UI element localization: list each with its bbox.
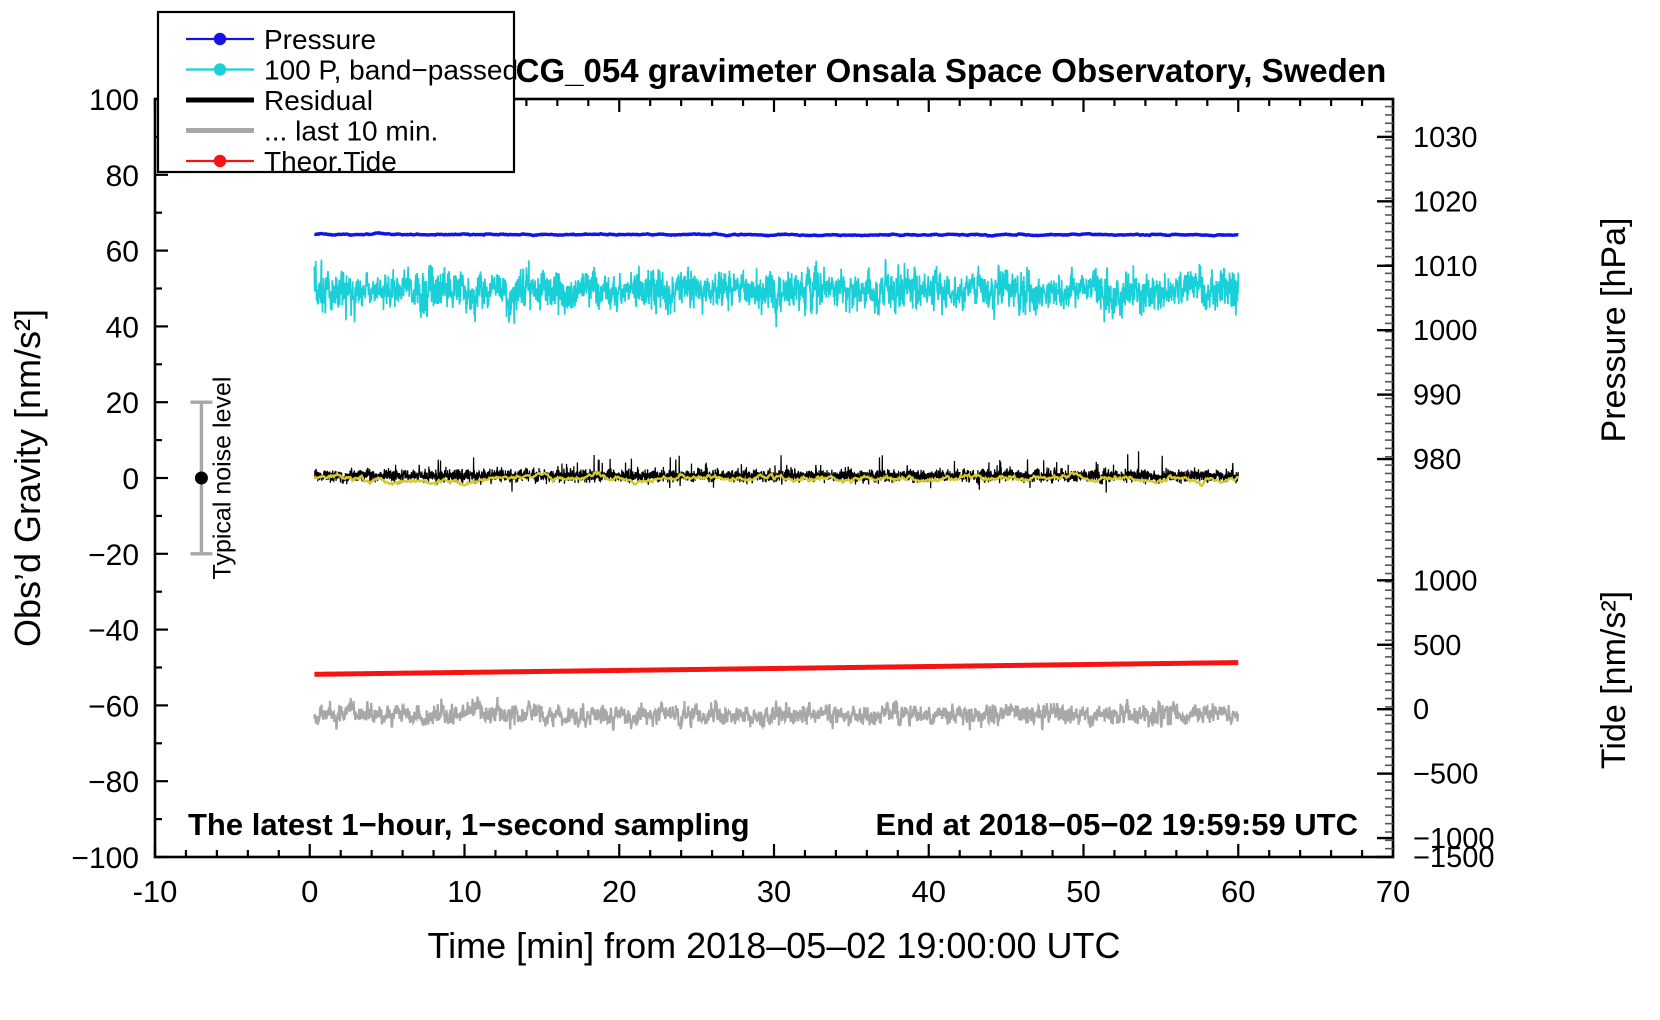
bottom-left-annotation: The latest 1−hour, 1−second sampling (188, 807, 750, 842)
x-tick-label: -10 (133, 874, 178, 909)
pressure-tick-label: 1010 (1413, 251, 1478, 283)
y-tick-label: 20 (106, 387, 139, 420)
gravimeter-chart-page: −100−80−60−40−20020406080100-10010203040… (0, 0, 1660, 1020)
legend-label: Pressure (264, 24, 376, 55)
legend-label: Theor.Tide (264, 146, 397, 177)
tide-axis-title: Tide [nm/s²] (1595, 591, 1633, 769)
legend-label: Residual (264, 85, 373, 116)
y-tick-label: −20 (88, 539, 139, 572)
pressure-tick-label: 1000 (1413, 315, 1478, 347)
pressure-tick-label: 980 (1413, 444, 1461, 476)
series-pressure (314, 233, 1238, 236)
y-axis-title: Obs’d Gravity [nm/s²] (7, 309, 48, 647)
x-tick-label: 40 (912, 874, 946, 909)
bottom-right-annotation: End at 2018−05−02 19:59:59 UTC (876, 807, 1359, 842)
y-tick-label: −100 (71, 842, 139, 875)
pressure-tick-label: 1030 (1413, 122, 1478, 154)
pressure-tick-label: 990 (1413, 380, 1461, 412)
y-tick-label: 40 (106, 311, 139, 344)
legend-label: 100 P, band−passed (264, 55, 518, 86)
chart-legend[interactable]: Pressure100 P, band−passedResidual... la… (158, 12, 518, 177)
x-tick-label: 30 (757, 874, 791, 909)
pressure-tick-label: 1020 (1413, 186, 1478, 218)
chart-title: SCG_054 gravimeter Onsala Space Observat… (494, 52, 1387, 89)
x-tick-label: 0 (301, 874, 318, 909)
legend-marker (214, 33, 226, 45)
x-tick-label: 20 (602, 874, 636, 909)
x-axis-title: Time [min] from 2018–05–02 19:00:00 UTC (427, 925, 1120, 966)
tide-tick-label: 500 (1413, 630, 1461, 662)
y-tick-label: −40 (88, 615, 139, 648)
y-tick-label: 80 (106, 160, 139, 193)
legend-label: ... last 10 min. (264, 116, 438, 147)
tide-tick-label: 0 (1413, 694, 1429, 726)
y-tick-label: −60 (88, 690, 139, 723)
x-tick-label: 60 (1221, 874, 1255, 909)
y-tick-label: 0 (122, 463, 139, 496)
gravimeter-chart: −100−80−60−40−20020406080100-10010203040… (0, 0, 1660, 1020)
tide-tick-label: −500 (1413, 759, 1478, 791)
legend-marker (214, 63, 226, 75)
noise-center-dot (195, 472, 208, 485)
noise-level-label: Typical noise level (208, 377, 236, 580)
y-tick-label: 100 (89, 84, 139, 117)
tide-tick-label: 1000 (1413, 565, 1478, 597)
x-tick-label: 10 (447, 874, 481, 909)
y-tick-label: −80 (88, 766, 139, 799)
tide-tick-label: −1500 (1413, 842, 1494, 874)
x-tick-label: 50 (1066, 874, 1100, 909)
pressure-axis-title: Pressure [hPa] (1595, 218, 1633, 443)
x-tick-label: 70 (1376, 874, 1410, 909)
legend-marker (214, 155, 226, 167)
y-tick-label: 60 (106, 236, 139, 269)
